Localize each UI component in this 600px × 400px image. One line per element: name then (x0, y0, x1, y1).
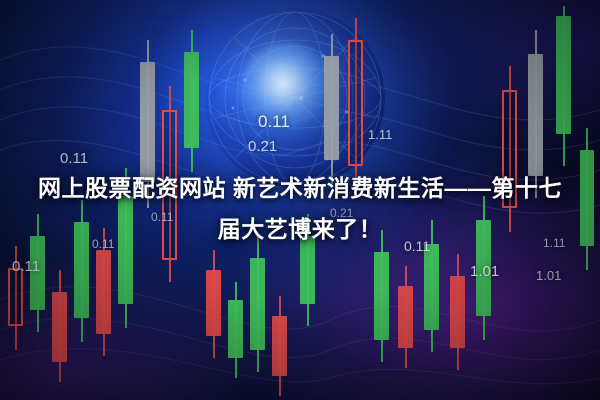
headline-text: 网上股票配资网站 新艺术新消费新生活——第十七 届大艺博来了！ (0, 168, 600, 250)
headline-line-2: 届大艺博来了！ (0, 209, 600, 250)
headline-line-1: 网上股票配资网站 新艺术新消费新生活——第十七 (38, 175, 562, 201)
stock-news-banner-image: 0.110.211.110.110.110.110.111.011.011.11… (0, 0, 600, 400)
